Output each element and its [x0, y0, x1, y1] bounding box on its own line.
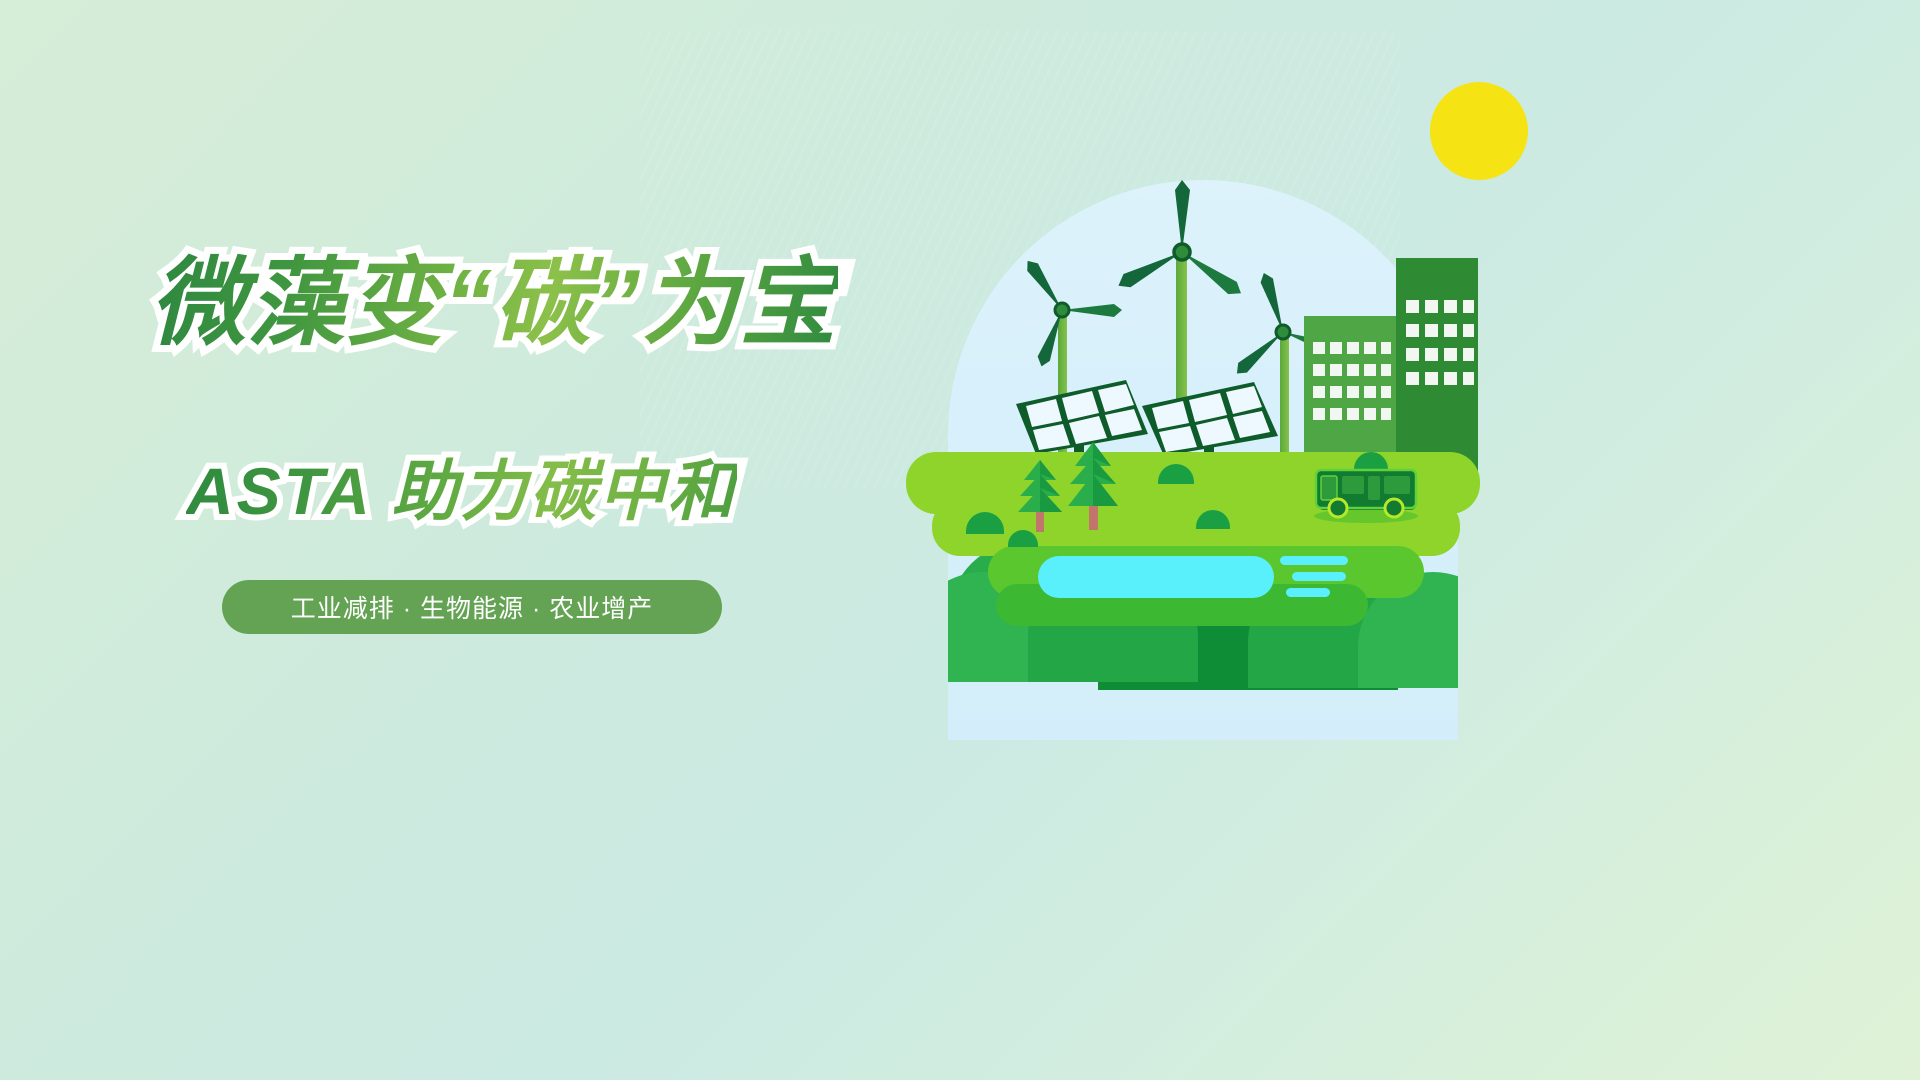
headline-line-2-fill: ASTA 助力碳中和 — [186, 452, 737, 531]
lake-streak-3 — [1286, 588, 1330, 597]
bus-icon — [1304, 462, 1428, 524]
lake-streak-1 — [1280, 556, 1348, 565]
lake — [1038, 556, 1274, 598]
headline-line-1-fill: 微藻变“碳”为宝 — [150, 248, 838, 359]
building-left-windows — [1304, 316, 1396, 472]
building-left — [1304, 316, 1396, 472]
sun-icon — [1430, 82, 1528, 180]
tree-large — [1066, 438, 1120, 530]
turbine-blades — [1003, 254, 1123, 374]
tree-shape — [1016, 454, 1064, 532]
tagline-badge-label: 工业减排 · 生物能源 · 农业增产 — [291, 589, 653, 625]
bus-shape — [1304, 462, 1428, 524]
tagline-badge[interactable]: 工业减排 · 生物能源 · 农业增产 — [222, 580, 722, 634]
solar-panel-surface — [1140, 380, 1284, 460]
building-right-windows — [1396, 258, 1478, 472]
headline-line-2: ASTA 助力碳中和 ASTA 助力碳中和 — [186, 452, 737, 531]
lake-streak-2 — [1292, 572, 1346, 581]
tree-small — [1016, 454, 1064, 532]
eco-illustration — [900, 60, 1540, 680]
tree-shape — [1066, 438, 1120, 530]
headline-line-1: 微藻变“碳”为宝 微藻变“碳”为宝 — [150, 248, 838, 359]
headline-block: 微藻变“碳”为宝 微藻变“碳”为宝 ASTA 助力碳中和 ASTA 助力碳中和 … — [0, 0, 900, 1080]
building-right — [1396, 258, 1478, 472]
